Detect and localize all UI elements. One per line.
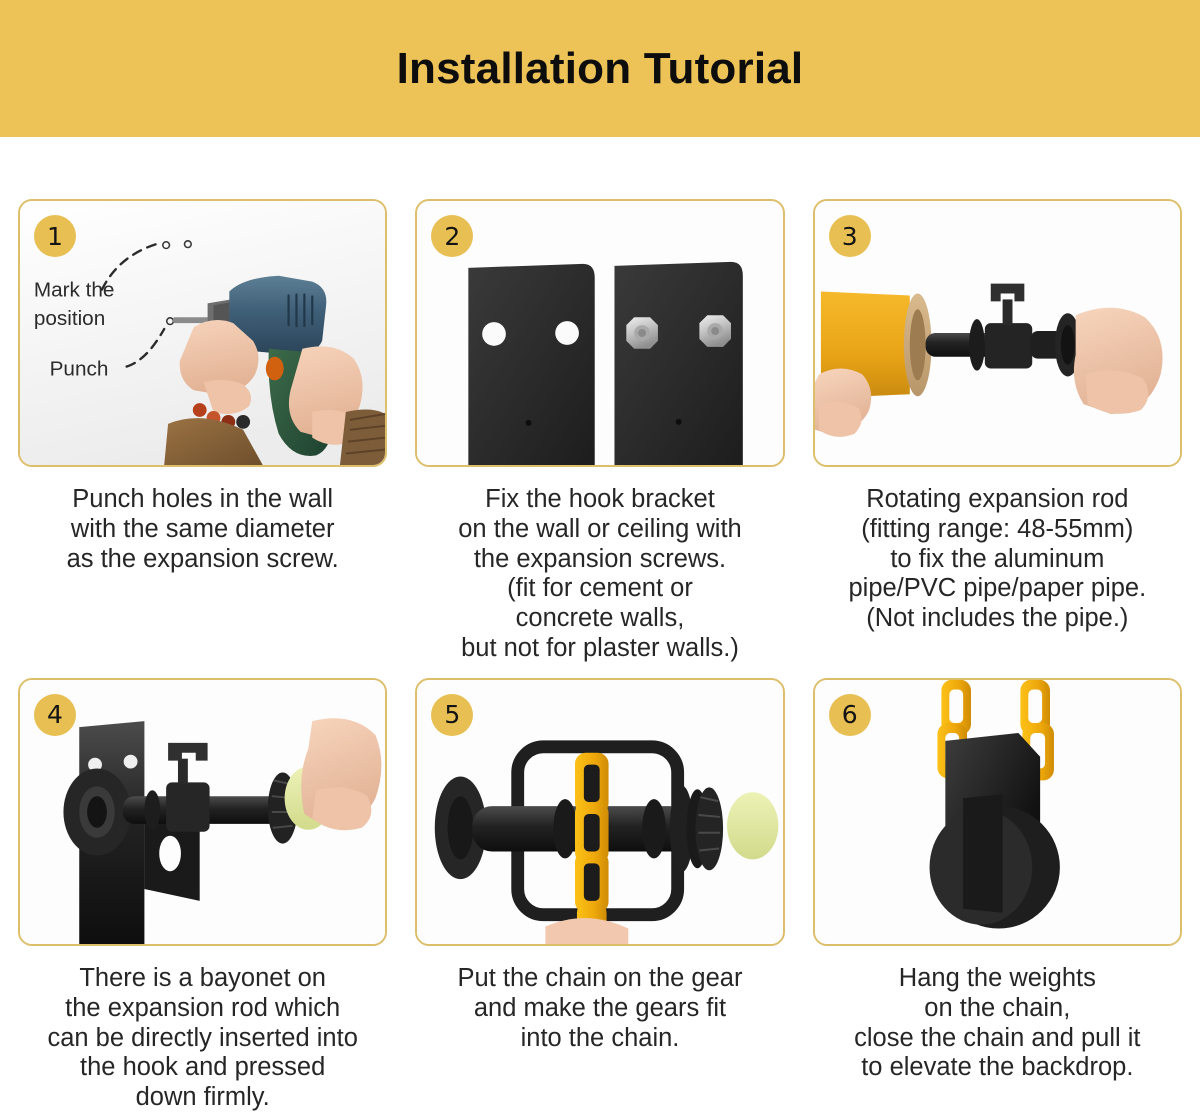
step-caption-2: Fix the hook bracket on the wall or ceil… — [458, 485, 741, 664]
step-5-photo: 5 — [415, 678, 784, 946]
page-title: Installation Tutorial — [397, 47, 804, 91]
step-caption-5: Put the chain on the gear and make the g… — [458, 964, 743, 1053]
step-badge-5: 5 — [431, 694, 473, 736]
step-2-photo: 2 — [415, 199, 784, 467]
step-6-photo: 6 — [813, 678, 1182, 946]
step-item-5: 5 Put the chain on the gear and make the… — [415, 678, 784, 1113]
step-badge-6: 6 — [829, 694, 871, 736]
step-3-photo: 3 — [813, 199, 1182, 467]
step-item-6: 6 Hang the weights on the chain, close t… — [813, 678, 1182, 1113]
annotation-mark-line2: position — [34, 307, 105, 330]
annotation-punch: Punch — [50, 357, 109, 380]
step-badge-1: 1 — [34, 215, 76, 257]
step-badge-4: 4 — [34, 694, 76, 736]
step-item-4: 4 There is a bayonet on the expansion ro… — [18, 678, 387, 1113]
step-caption-6: Hang the weights on the chain, close the… — [854, 964, 1140, 1083]
step-item-2: 2 Fix the hook bracket on the wall or ce… — [415, 199, 784, 664]
step-caption-3: Rotating expansion rod (fitting range: 4… — [848, 485, 1146, 634]
step-item-1: Mark the position Punch — [18, 199, 387, 664]
header-banner: Installation Tutorial — [0, 0, 1200, 137]
step-item-3: 3 Rotating expansion rod (fitting range:… — [813, 199, 1182, 664]
steps-grid: Mark the position Punch — [0, 137, 1200, 1113]
annotation-mark-line1: Mark the — [34, 278, 115, 301]
step-4-photo: 4 — [18, 678, 387, 946]
step-badge-3: 3 — [829, 215, 871, 257]
step-1-photo: Mark the position Punch — [18, 199, 387, 467]
yellow-chain — [575, 753, 609, 944]
step-caption-1: Punch holes in the wall with the same di… — [67, 485, 339, 574]
